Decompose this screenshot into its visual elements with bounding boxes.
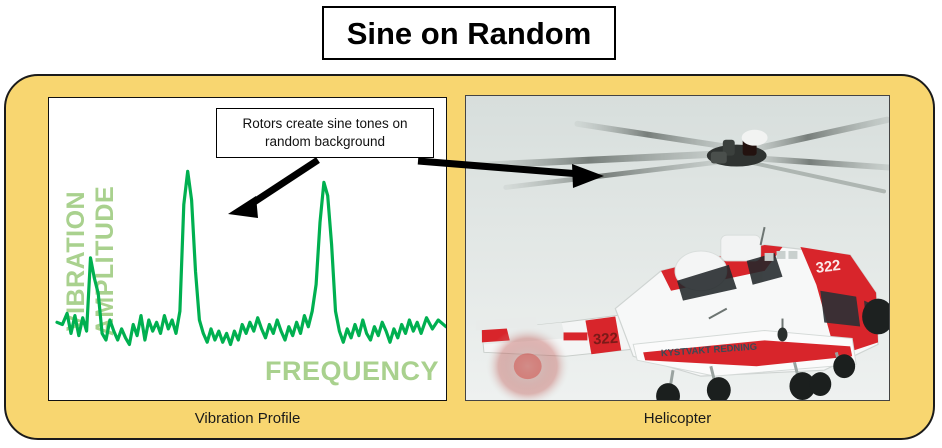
helicopter-illustration: 322 322 KYSTVAKT REDNING xyxy=(466,96,889,400)
callout-line-1: Rotors create sine tones on xyxy=(242,116,407,131)
page-title: Sine on Random xyxy=(347,18,592,49)
x-axis-label: FREQUENCY xyxy=(209,356,439,387)
callout-line-2: random background xyxy=(265,134,385,149)
svg-text:322: 322 xyxy=(593,331,619,349)
caption-helicopter: Helicopter xyxy=(465,410,890,427)
callout-box: Rotors create sine tones on random backg… xyxy=(216,108,434,158)
title-box: Sine on Random xyxy=(322,6,616,60)
helicopter-photo: 322 322 KYSTVAKT REDNING xyxy=(465,95,890,401)
callout-text: Rotors create sine tones on random backg… xyxy=(242,115,407,151)
svg-text:322: 322 xyxy=(815,258,842,277)
caption-vibration-profile: Vibration Profile xyxy=(48,410,447,427)
